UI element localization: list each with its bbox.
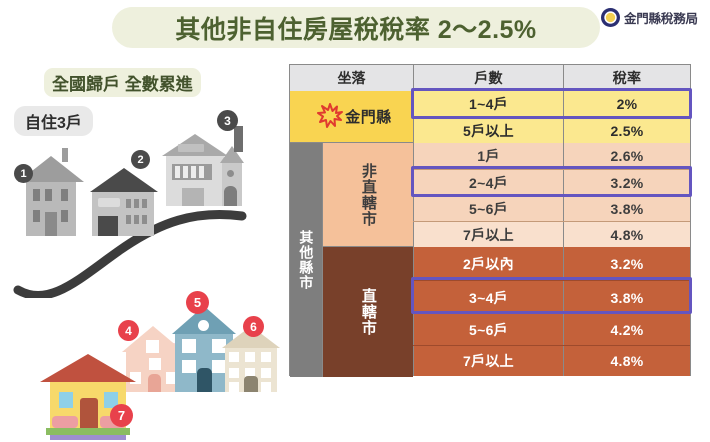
cell-rate: 4.8% [610,353,643,369]
agency-name: 金門縣稅務局 [624,8,698,27]
header-location: 坐落 [338,68,366,88]
location-non-municipality: 非直轄市 [322,143,413,247]
cell-count: 7戶以上 [463,225,514,245]
location-municipality: 直轄市 [322,247,413,377]
location-other-counties-label: 其他縣市 [299,230,314,290]
cell-rate: 4.8% [610,227,643,243]
house-3 [160,120,244,212]
house-badge-7: 7 [110,404,133,427]
house-badge-5: 5 [186,291,209,314]
cell-rate: 3.8% [610,290,643,306]
cell-count: 5~6戶 [469,199,508,219]
house-badge-3: 3 [217,110,238,131]
cell-count: 3~4戶 [469,288,508,308]
page-title: 其他非自住房屋稅稅率 2～2.5% [112,7,600,48]
header-rate: 稅率 [613,68,642,88]
location-non-municipality-label: 非直轄市 [360,163,376,227]
housing-illustration: 全國歸戶 全數累進 自住3戶 非自住4戶 1 2 [0,58,285,400]
cell-rate: 2.5% [610,123,643,139]
header-count: 戶數 [474,68,503,88]
self-use-label: 自住3戶 [14,106,93,136]
cell-count: 5戶以上 [463,121,514,141]
cell-count: 2戶以內 [463,254,514,274]
cell-count: 2~4戶 [469,173,508,193]
cell-rate: 4.2% [610,322,643,338]
cell-rate: 2.6% [610,148,643,164]
cell-count: 1~4戶 [469,94,508,114]
cell-rate: 2% [617,96,638,112]
location-kinmen-label: 金門縣 [345,106,392,127]
cell-count: 7戶以上 [463,351,514,371]
location-kinmen: 金門縣 [290,91,413,143]
house-1 [18,142,84,236]
agency-seal-icon [601,8,620,27]
agency-logo: 金門縣稅務局 [601,6,698,28]
illustration-subtitle: 全國歸戶 全數累進 [44,68,201,97]
cell-rate: 3.2% [610,175,643,191]
cell-count: 1戶 [477,146,499,166]
cell-rate: 3.8% [610,201,643,217]
house-7 [40,354,136,442]
cell-rate: 3.2% [610,256,643,272]
house-badge-2: 2 [131,150,150,169]
sparkle-icon [317,102,343,132]
house-badge-4: 4 [118,320,139,341]
page-header: 其他非自住房屋稅稅率 2～2.5% 金門縣稅務局 [0,0,710,58]
tax-rate-table: 坐落 戶數 稅率 1~4戶 2% 5戶以上 2.5% 1戶 2.6% 2~4戶 … [289,64,691,376]
cell-count: 5~6戶 [469,320,508,340]
location-other-counties: 其他縣市 [290,143,322,377]
house-badge-6: 6 [243,316,264,337]
house-badge-1: 1 [14,164,33,183]
location-municipality-label: 直轄市 [360,288,376,336]
table-header-row: 坐落 戶數 稅率 [290,65,690,92]
house-2 [86,152,162,236]
